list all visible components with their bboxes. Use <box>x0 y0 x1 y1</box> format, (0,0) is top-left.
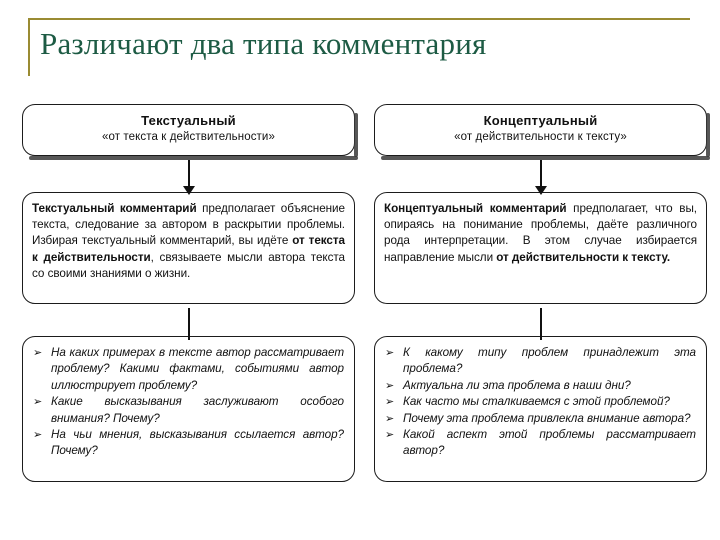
header-title-textual: Текстуальный <box>23 112 354 129</box>
question-text: На каких примерах в тексте автор рассмат… <box>51 346 344 392</box>
question-text: Почему эта проблема привлекла внимание а… <box>403 412 691 425</box>
arrow-bullet-icon: ➢ <box>385 378 394 394</box>
column-textual: Текстуальный «от текста к действительнос… <box>22 104 355 482</box>
definition-lead-conceptual: Концептуальный комментарий <box>384 202 566 215</box>
question-text: Какие высказывания заслуживают особого в… <box>51 395 344 424</box>
header-box-conceptual: Концептуальный «от действительности к те… <box>374 104 707 156</box>
definition-box-textual: Текстуальный комментарий предполагает об… <box>22 192 355 304</box>
arrow-bullet-icon: ➢ <box>385 411 394 427</box>
page-title: Различают два типа комментария <box>40 24 690 64</box>
question-list-textual: ➢На каких примерах в тексте автор рассма… <box>31 345 344 460</box>
arrow-bullet-icon: ➢ <box>33 394 42 410</box>
list-item: ➢Какие высказывания заслуживают особого … <box>31 394 344 427</box>
arrow-bullet-icon: ➢ <box>385 427 394 443</box>
header-box-textual: Текстуальный «от текста к действительнос… <box>22 104 355 156</box>
arrow-bullet-icon: ➢ <box>33 345 42 361</box>
list-item: ➢Как часто мы сталкиваемся с этой пробле… <box>383 394 696 410</box>
question-text: Как часто мы сталкиваемся с этой проблем… <box>403 395 670 408</box>
question-text: На чьи мнения, высказывания ссылается ав… <box>51 428 344 457</box>
question-list-conceptual: ➢К какому типу проблем принадлежит эта п… <box>383 345 696 460</box>
question-text: Актуальна ли эта проблема в наши дни? <box>403 379 631 392</box>
header-subtitle-conceptual: «от действительности к тексту» <box>375 129 706 145</box>
definition-lead-textual: Текстуальный комментарий <box>32 202 197 215</box>
list-item: ➢Какой аспект этой проблемы рассматривае… <box>383 427 696 460</box>
question-text: Какой аспект этой проблемы рассматривает… <box>403 428 696 457</box>
definition-box-conceptual: Концептуальный комментарий предполагает,… <box>374 192 707 304</box>
arrow-bullet-icon: ➢ <box>385 345 394 361</box>
list-item: ➢Актуальна ли эта проблема в наши дни? <box>383 378 696 394</box>
arrow-bullet-icon: ➢ <box>385 394 394 410</box>
question-text: К какому типу проблем принадлежит эта пр… <box>403 346 696 375</box>
list-item: ➢На каких примерах в тексте автор рассма… <box>31 345 344 394</box>
slide-canvas: Различают два типа комментария Текстуаль… <box>0 0 720 540</box>
header-subtitle-textual: «от текста к действительности» <box>23 129 354 145</box>
list-item: ➢К какому типу проблем принадлежит эта п… <box>383 345 696 378</box>
title-accent-border: Различают два типа комментария <box>28 18 690 76</box>
questions-box-conceptual: ➢К какому типу проблем принадлежит эта п… <box>374 336 707 482</box>
questions-box-textual: ➢На каких примерах в тексте автор рассма… <box>22 336 355 482</box>
list-item: ➢Почему эта проблема привлекла внимание … <box>383 411 696 427</box>
header-title-conceptual: Концептуальный <box>375 112 706 129</box>
definition-emphasis-conceptual: от действительности к тексту. <box>496 251 670 264</box>
column-conceptual: Концептуальный «от действительности к те… <box>374 104 707 482</box>
arrow-bullet-icon: ➢ <box>33 427 42 443</box>
list-item: ➢На чьи мнения, высказывания ссылается а… <box>31 427 344 460</box>
